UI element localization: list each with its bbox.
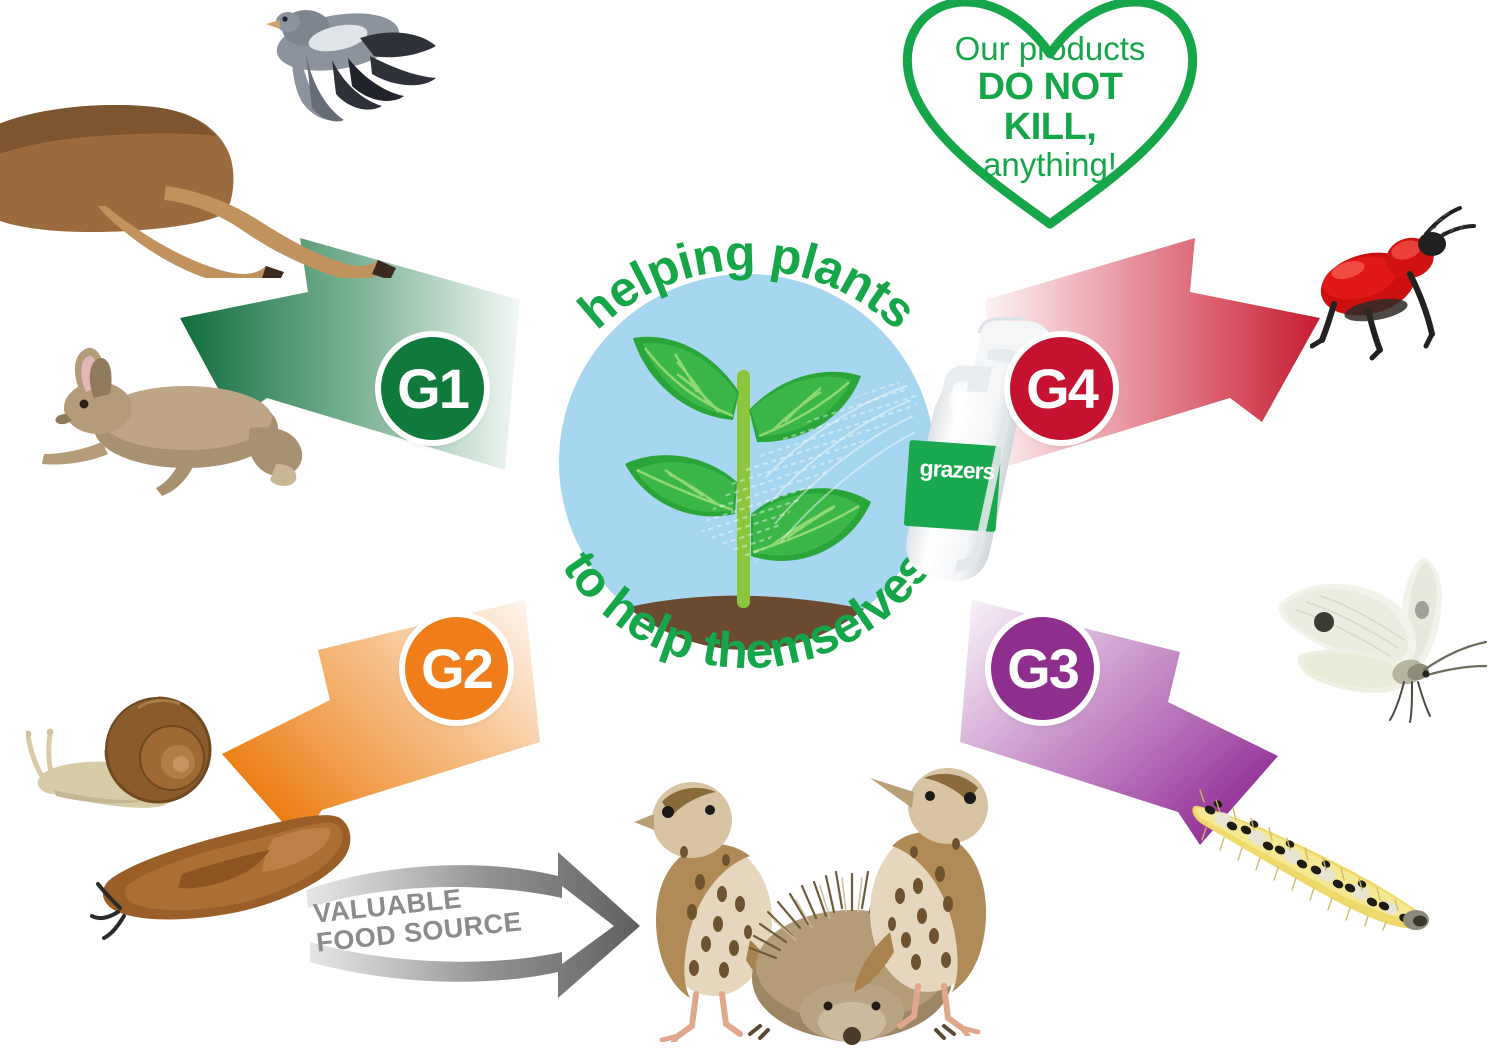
heart-line-3: KILL,	[895, 107, 1205, 147]
badge-g1[interactable]: G1	[381, 337, 484, 440]
animal-rabbit	[36, 336, 316, 516]
valuable-food-source-arrow[interactable]: VALUABLE FOOD SOURCE	[296, 846, 656, 1026]
heart-badge-copy: Our products DO NOT KILL, anything!	[895, 32, 1205, 182]
animal-lily-beetle	[1310, 200, 1480, 370]
animal-cabbage-white-butterfly	[1262, 544, 1492, 744]
heart-line-1: Our products	[895, 32, 1205, 67]
bottle-brand-label: grazers	[911, 454, 1002, 486]
animal-song-thrush-right	[836, 756, 1016, 1036]
badge-g3[interactable]: G3	[991, 617, 1094, 720]
heart-line-4: anything!	[895, 148, 1205, 183]
animal-wood-pigeon	[240, 2, 440, 142]
heart-line-2: DO NOT	[895, 67, 1205, 107]
ring-text-top: helping plants	[568, 225, 927, 340]
badge-g2[interactable]: G2	[405, 617, 508, 720]
animal-caterpillar	[1180, 782, 1440, 932]
infographic-canvas: helping plants to help themselves	[0, 0, 1492, 1050]
badge-g4[interactable]: G4	[1010, 337, 1113, 440]
heart-badge: Our products DO NOT KILL, anything!	[895, 0, 1205, 237]
